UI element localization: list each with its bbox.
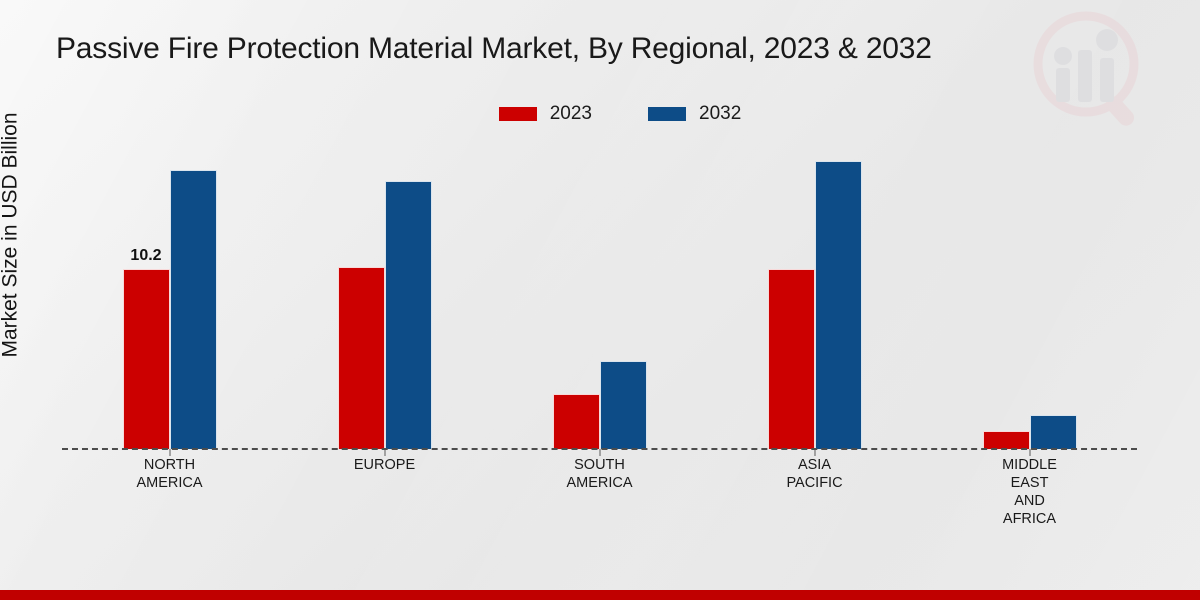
legend-label-2032: 2032	[699, 103, 741, 125]
x-axis-category-label: ASIA PACIFIC	[735, 456, 895, 492]
bar-group: SOUTH AMERICA	[492, 140, 707, 449]
bar-2023[interactable]	[983, 431, 1030, 449]
bar-2023[interactable]	[338, 267, 385, 449]
bar-2032[interactable]	[1030, 415, 1077, 449]
bar-group: 10.2NORTH AMERICA	[62, 140, 277, 449]
x-axis-tick	[384, 449, 385, 456]
bar-pair	[983, 140, 1077, 449]
bar-2023[interactable]: 10.2	[123, 269, 170, 449]
bar-2032[interactable]	[385, 181, 432, 449]
bar-group: EUROPE	[277, 140, 492, 449]
bar-groups: 10.2NORTH AMERICAEUROPESOUTH AMERICAASIA…	[62, 140, 1137, 449]
y-axis-title-text: Market Size in USD Billion	[0, 112, 23, 357]
x-axis-category-label: MIDDLE EAST AND AFRICA	[950, 456, 1110, 528]
bar-pair	[338, 140, 432, 449]
chart-legend: 2023 2032	[0, 103, 1200, 125]
x-axis-category-label: SOUTH AMERICA	[520, 456, 680, 492]
legend-swatch-2023	[499, 107, 537, 121]
x-axis-baseline	[62, 448, 1137, 450]
plot-area: 10.2NORTH AMERICAEUROPESOUTH AMERICAASIA…	[62, 140, 1137, 450]
watermark-logo-icon	[1028, 6, 1156, 146]
x-axis-tick	[599, 449, 600, 456]
bar-2032[interactable]	[815, 161, 862, 449]
bar-pair: 10.2	[123, 140, 217, 449]
bar-2023[interactable]	[768, 269, 815, 449]
chart-canvas: Passive Fire Protection Material Market,…	[0, 0, 1200, 600]
x-axis-tick	[814, 449, 815, 456]
x-axis-category-label: EUROPE	[305, 456, 465, 474]
bar-2032[interactable]	[170, 170, 217, 449]
page-title: Passive Fire Protection Material Market,…	[56, 32, 932, 66]
x-axis-tick	[169, 449, 170, 456]
bar-2032[interactable]	[600, 361, 647, 449]
x-axis-tick	[1029, 449, 1030, 456]
bar-pair	[768, 140, 862, 449]
legend-swatch-2032	[648, 107, 686, 121]
legend-item-2032[interactable]: 2032	[648, 103, 741, 125]
bottom-accent-bar	[0, 590, 1200, 600]
bar-2023[interactable]	[553, 394, 600, 449]
legend-item-2023[interactable]: 2023	[499, 103, 592, 125]
bar-group: ASIA PACIFIC	[707, 140, 922, 449]
y-axis-title: Market Size in USD Billion	[0, 0, 28, 600]
legend-label-2023: 2023	[550, 103, 592, 125]
bar-pair	[553, 140, 647, 449]
bar-group: MIDDLE EAST AND AFRICA	[922, 140, 1137, 449]
bar-value-label: 10.2	[130, 247, 161, 265]
x-axis-category-label: NORTH AMERICA	[90, 456, 250, 492]
